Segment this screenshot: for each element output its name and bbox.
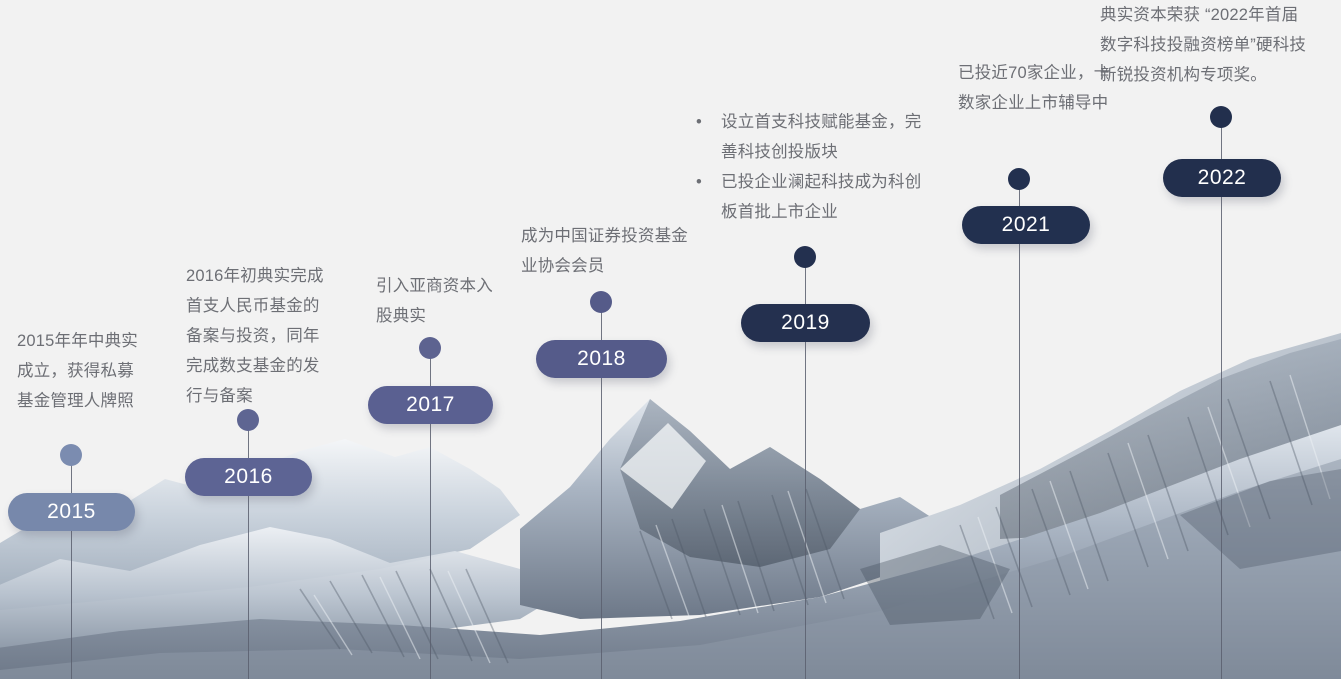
timeline-infographic: 2015年年中典实成立，获得私募基金管理人牌照20152016年初典实完成首支人… — [0, 0, 1341, 679]
timeline-connector-line-2022 — [1221, 117, 1222, 679]
timeline-year-pill-2018[interactable]: 2018 — [536, 340, 667, 378]
bullet-icon: • — [696, 167, 702, 197]
timeline-dot-2016[interactable] — [237, 409, 259, 431]
timeline-dot-2017[interactable] — [419, 337, 441, 359]
bullet-icon: • — [696, 107, 702, 137]
timeline-connector-line-2021 — [1019, 179, 1020, 679]
timeline-year-pill-2019[interactable]: 2019 — [741, 304, 870, 342]
timeline-dot-2015[interactable] — [60, 444, 82, 466]
timeline-description-2016: 2016年初典实完成首支人民币基金的备案与投资，同年完成数支基金的发行与备案 — [186, 261, 334, 411]
timeline-year-pill-2017[interactable]: 2017 — [368, 386, 493, 424]
timeline-year-pill-2021[interactable]: 2021 — [962, 206, 1090, 244]
timeline-dot-2022[interactable] — [1210, 106, 1232, 128]
timeline-dot-2019[interactable] — [794, 246, 816, 268]
timeline-description-2017: 引入亚商资本入股典实 — [376, 271, 494, 331]
timeline-bullet-list-2019: •设立首支科技赋能基金，完善科技创投版块•已投企业澜起科技成为科创板首批上市企业 — [688, 107, 923, 227]
timeline-bullet-item: •已投企业澜起科技成为科创板首批上市企业 — [688, 167, 923, 227]
timeline-year-pill-2016[interactable]: 2016 — [185, 458, 312, 496]
timeline-bullet-text: 已投企业澜起科技成为科创板首批上市企业 — [721, 173, 921, 221]
timeline-description-2021: 已投近70家企业，十数家企业上市辅导中 — [958, 58, 1118, 118]
timeline-description-2022: 典实资本荣获 “2022年首届数字科技投融资榜单”硬科技新锐投资机构专项奖。 — [1100, 0, 1312, 90]
timeline-description-2018: 成为中国证券投资基金业协会会员 — [521, 221, 701, 281]
timeline-dot-2018[interactable] — [590, 291, 612, 313]
timeline-year-pill-2022[interactable]: 2022 — [1163, 159, 1281, 197]
timeline-year-pill-2015[interactable]: 2015 — [8, 493, 135, 531]
timeline-dot-2021[interactable] — [1008, 168, 1030, 190]
timeline-connector-line-2015 — [71, 455, 72, 679]
timeline-description-2015: 2015年年中典实成立，获得私募基金管理人牌照 — [17, 326, 149, 416]
timeline-bullet-item: •设立首支科技赋能基金，完善科技创投版块 — [688, 107, 923, 167]
timeline-bullet-text: 设立首支科技赋能基金，完善科技创投版块 — [721, 113, 921, 161]
